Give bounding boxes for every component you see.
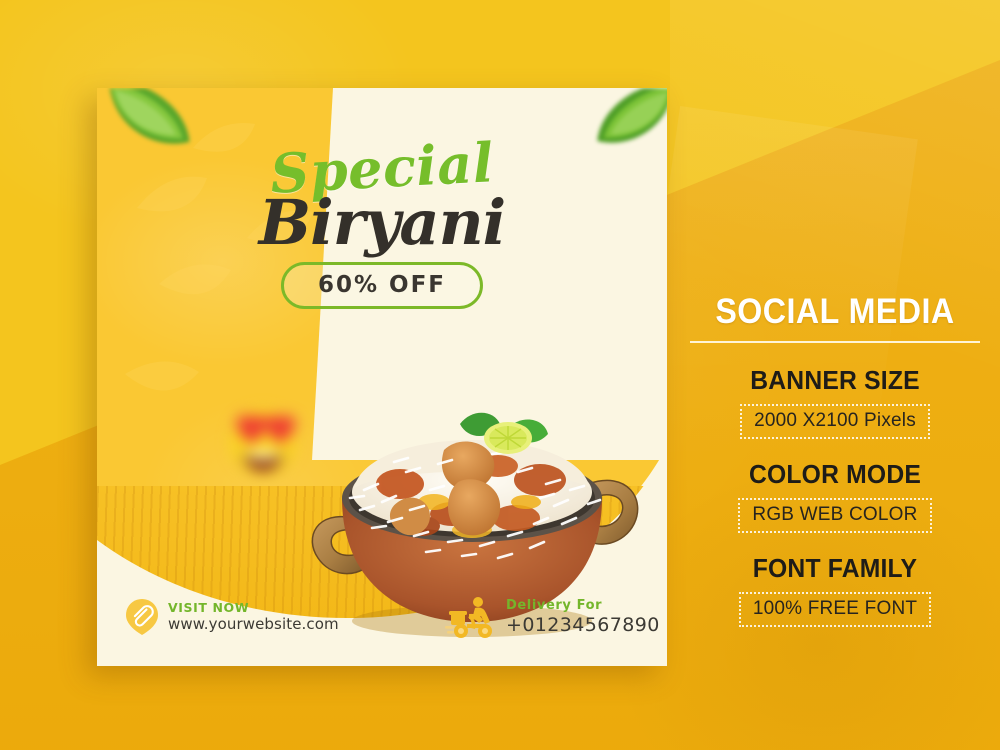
visit-now-label: VISIT NOW (168, 600, 339, 616)
spec-heading: COLOR MODE (697, 459, 973, 490)
spec-group-font-family: FONT FAMILY 100% FREE FONT (690, 553, 980, 627)
offer-badge[interactable]: 60% OFF (281, 262, 483, 309)
location-pin-paperclip-icon (125, 598, 159, 636)
social-media-banner-card: Special Biryani 60% OFF (97, 88, 667, 666)
poster-mockup: Special Biryani 60% OFF (0, 0, 1000, 750)
spec-group-banner-size: BANNER SIZE 2000 X2100 Pixels (690, 365, 980, 439)
delivery-label: Delivery For (506, 598, 660, 614)
spec-value: 2000 X2100 Pixels (754, 410, 916, 431)
offer-badge-label: 60% OFF (318, 272, 446, 298)
spec-value-box: RGB WEB COLOR (738, 498, 931, 533)
delivery-scooter-icon (445, 596, 497, 640)
spec-panel-divider (690, 341, 980, 343)
headline-main: Biryani (97, 186, 667, 259)
lime-slice (484, 422, 532, 454)
spec-group-color-mode: COLOR MODE RGB WEB COLOR (690, 459, 980, 533)
spec-panel: SOCIAL MEDIA BANNER SIZE 2000 X2100 Pixe… (690, 292, 980, 647)
delivery-block[interactable]: Delivery For +01234567890 (445, 596, 660, 640)
delivery-phone: +01234567890 (506, 614, 660, 638)
spec-value-box: 2000 X2100 Pixels (740, 404, 930, 439)
visit-now-block[interactable]: VISIT NOW www.yourwebsite.com (125, 598, 339, 636)
heart-eyes-emoji (215, 394, 311, 490)
website-url: www.yourwebsite.com (168, 615, 339, 634)
spec-panel-title: SOCIAL MEDIA (702, 292, 969, 332)
spec-value: 100% FREE FONT (753, 598, 917, 619)
spec-value-box: 100% FREE FONT (739, 592, 931, 627)
spec-heading: BANNER SIZE (697, 365, 973, 396)
spec-heading: FONT FAMILY (697, 553, 973, 584)
spec-value: RGB WEB COLOR (752, 504, 917, 525)
banner-footer: VISIT NOW www.yourwebsite.com (97, 584, 667, 666)
